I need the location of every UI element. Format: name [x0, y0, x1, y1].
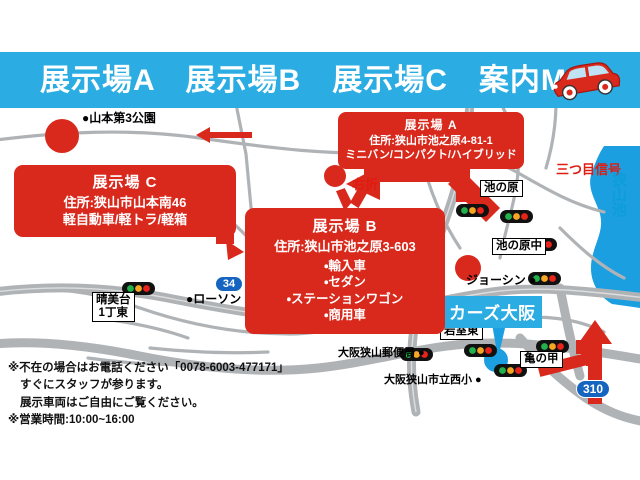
map-page: 展示場A 展示場B 展示場C 案内MAP [0, 0, 640, 480]
route-shield-34: 34 [215, 276, 243, 292]
label-post-office: 大阪狭山郵便局 ● [338, 348, 425, 359]
showroom-b-address: 住所:狭山市池之原3-603 [251, 238, 439, 255]
ikenohara-line1: 池の原 [484, 182, 519, 194]
showroom-b-item-0: ・輸入車 [251, 258, 439, 275]
label-sayama-pond: 狭山池 [608, 172, 628, 221]
destination-banner[interactable]: カーズ大阪 [443, 296, 542, 328]
sayama-pond-text: 狭山池 [610, 172, 626, 217]
footnote-line-4: ※営業時間:10:00~16:00 [8, 412, 308, 429]
footnote: ※不在の場合はお電話ください「0078-6003-477171」 すぐにスタッフ… [8, 360, 308, 429]
label-joshin: ジョーシン ● [466, 274, 536, 286]
showroom-c-types: 軽自動車/軽トラ/軽箱 [20, 211, 230, 228]
showroom-a-address: 住所:狭山市池之原4-81-1 [342, 134, 520, 149]
harumidai-line2: 1丁東 [99, 307, 128, 319]
label-turn-right: 右折 [352, 174, 378, 193]
route-shield-310: 310 [576, 380, 610, 398]
label-nishi-elementary: 大阪狭山市立西小 ● [384, 375, 482, 386]
red-car-icon [546, 58, 624, 104]
showroom-b-item-1: ・セダン [251, 274, 439, 291]
footnote-line-2: すぐにスタッフが参ります。 [8, 377, 308, 394]
footnote-line-1: ※不在の場合はお電話ください「0078-6003-477171」 [8, 360, 308, 377]
showroom-b-item-2: ・ステーションワゴン [251, 291, 439, 308]
showroom-c-address: 住所:狭山市山本南46 [20, 194, 230, 211]
boxed-label-ikenohara-naka: 池の原中 [492, 238, 546, 255]
showroom-c-box[interactable]: 展示場 C 住所:狭山市山本南46 軽自動車/軽トラ/軽箱 [14, 165, 236, 237]
harumidai-line1: 晴美台 [96, 294, 131, 306]
marker-dot-c [45, 119, 79, 153]
showroom-c-title: 展示場 C [20, 173, 230, 193]
ikenohara-naka-line1: 池の原中 [496, 240, 542, 252]
showroom-b-title: 展示場 B [251, 217, 439, 237]
showroom-a-box[interactable]: 展示場 A 住所:狭山市池之原4-81-1 ミニバン/コンパクト/ハイブリッド [338, 112, 524, 169]
showroom-a-types: ミニバン/コンパクト/ハイブリッド [342, 148, 520, 163]
label-yamamoto-park: ●山本第3公園 [82, 112, 156, 124]
label-lawson: ●ローソン [186, 293, 241, 305]
showroom-b-box[interactable]: 展示場 B 住所:狭山市池之原3-603 ・輸入車 ・セダン ・ステーションワゴ… [245, 208, 445, 334]
kamenoko-line1: 亀の甲 [524, 353, 559, 365]
boxed-label-ikenohara: 池の原 [480, 180, 523, 197]
showroom-b-item-3: ・商用車 [251, 307, 439, 324]
boxed-label-harumidai: 晴美台 1丁東 [92, 292, 135, 322]
showroom-a-title: 展示場 A [342, 118, 520, 134]
boxed-label-kamenoko: 亀の甲 [520, 351, 563, 368]
page-title: 展示場A 展示場B 展示場C 案内MAP [40, 60, 540, 102]
footnote-line-3: 展示車両はご自由にご覧ください。 [8, 395, 308, 412]
